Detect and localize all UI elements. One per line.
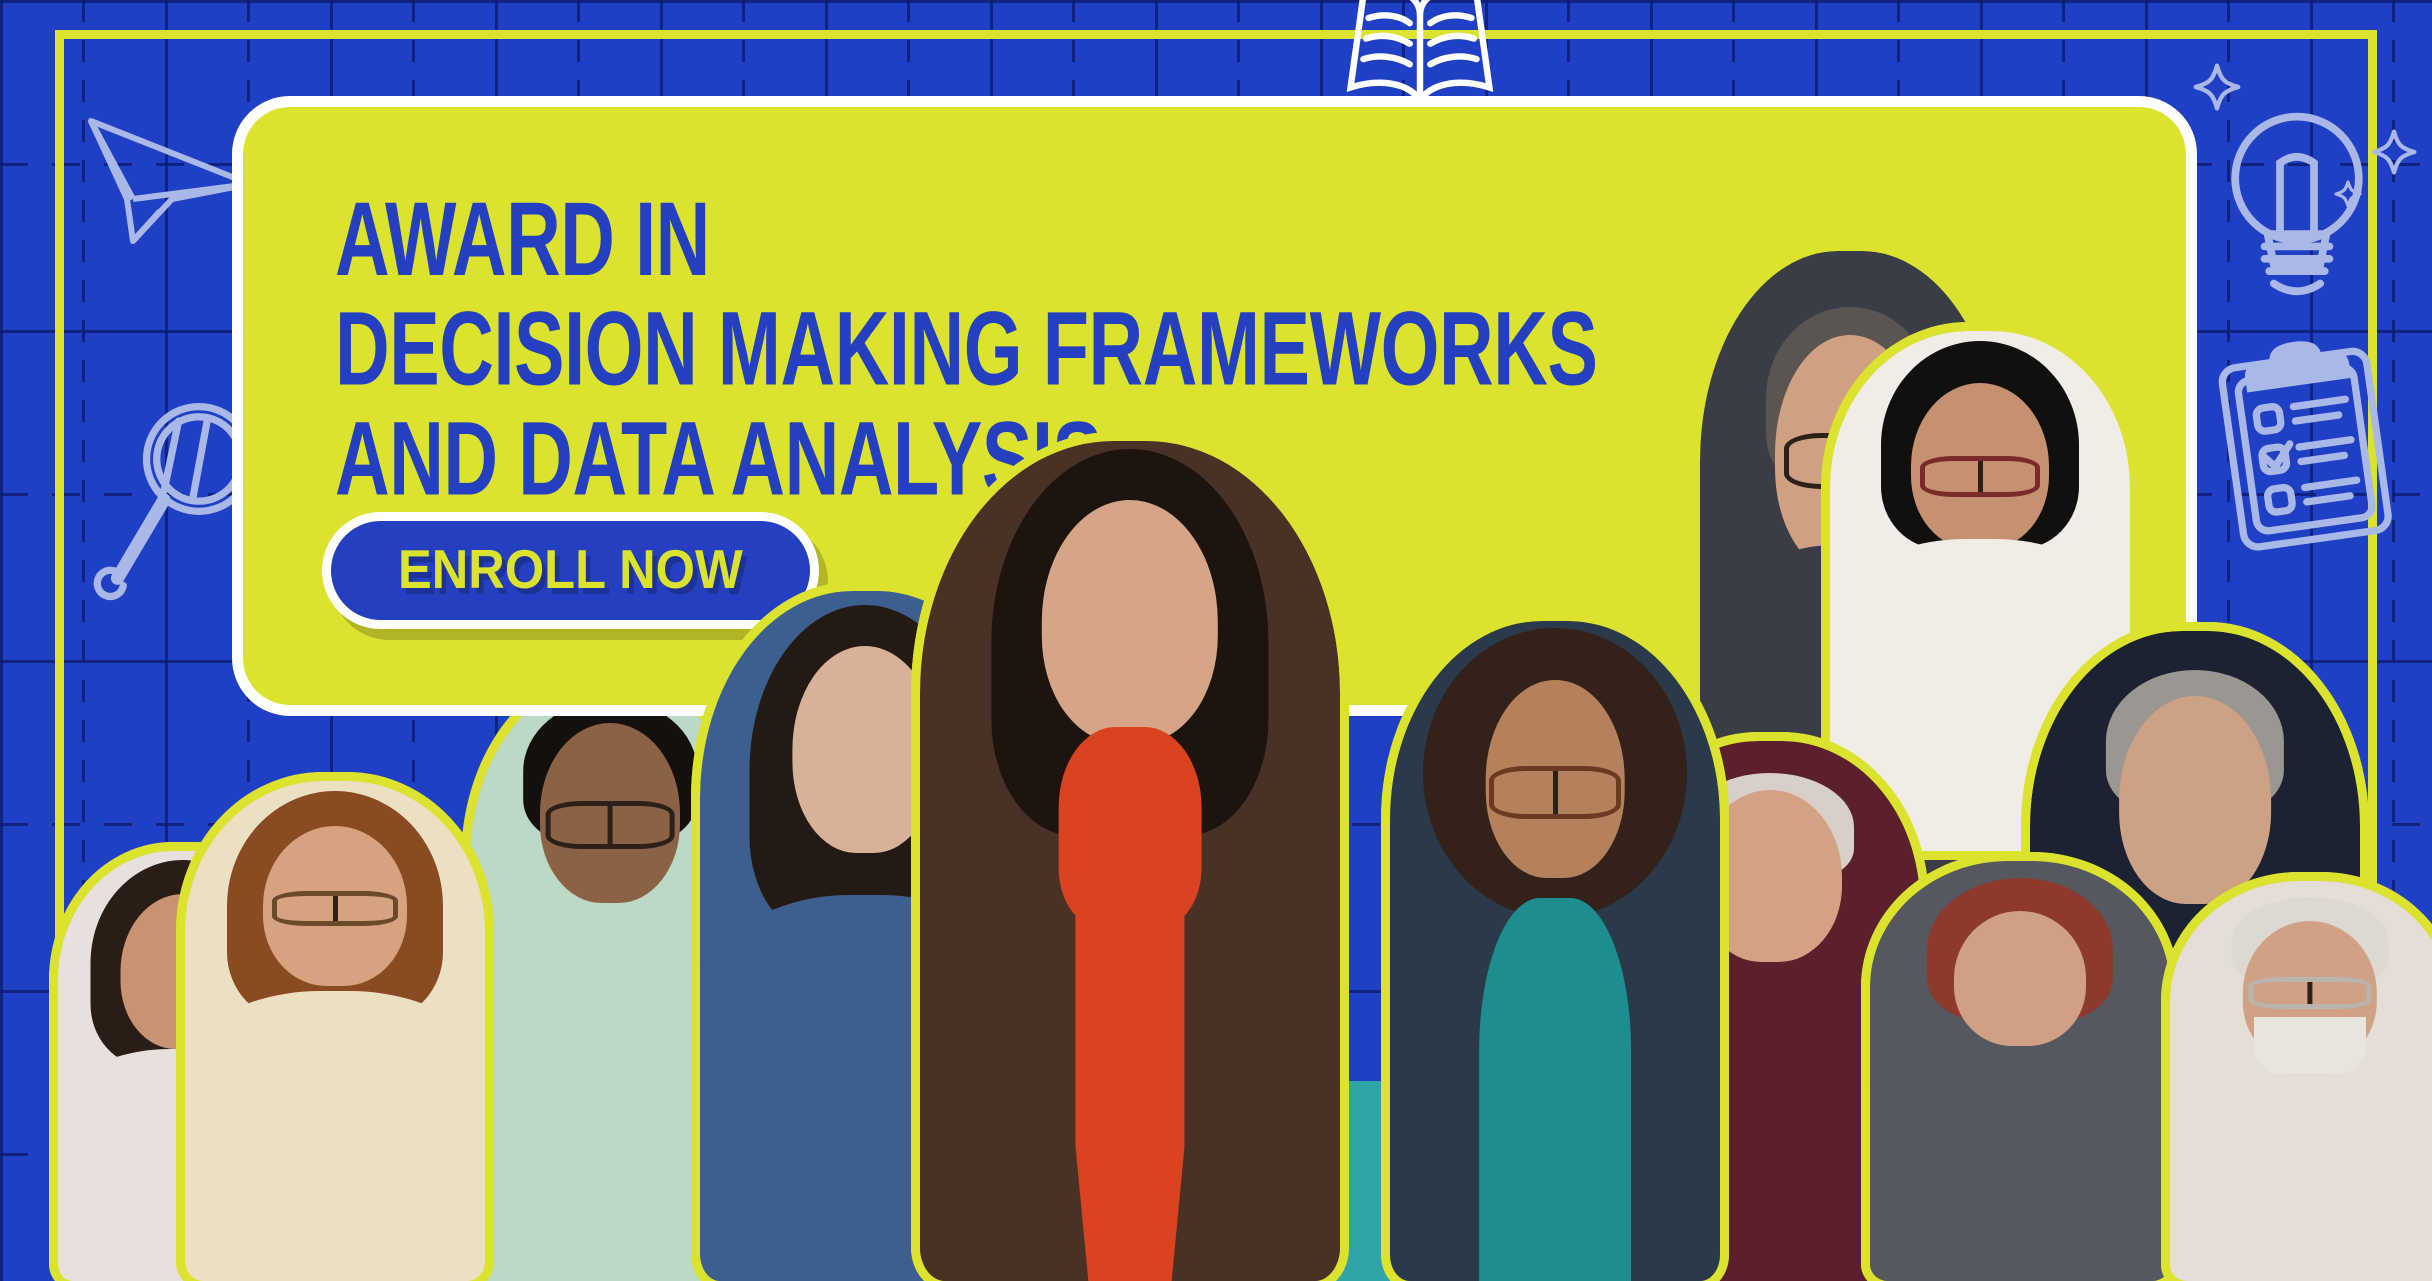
participant-2 (185, 781, 485, 1281)
enroll-now-label: ENROLL NOW (398, 537, 743, 601)
participant-5 (920, 441, 1340, 1281)
promo-banner: AWARD IN DECISION MAKING FRAMEWORKS AND … (0, 0, 2432, 1281)
participant-11 (1870, 861, 2170, 1281)
title-line-2: DECISION MAKING FRAMEWORKS (335, 297, 1929, 402)
participant-6 (1390, 621, 1720, 1281)
title-line-1: AWARD IN (335, 187, 1929, 292)
participant-12 (2170, 881, 2432, 1281)
